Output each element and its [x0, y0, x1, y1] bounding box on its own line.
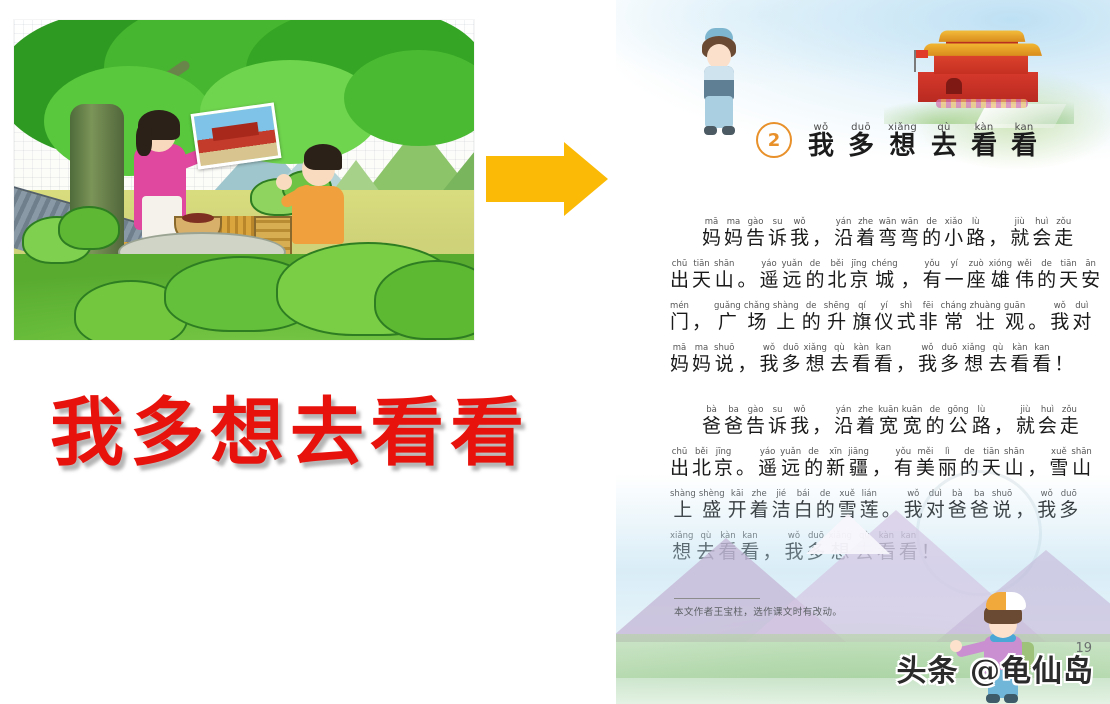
hanzi: 看: [1032, 354, 1051, 376]
ruby-char: duì对: [1072, 302, 1091, 334]
hanzi: 一: [945, 270, 964, 292]
ruby-char: jīng京: [850, 260, 869, 292]
lesson-heading: 2 wǒ我duō多xiǎng想qù去kàn看kan看: [756, 122, 1086, 160]
snow-mountain-cap: [806, 514, 890, 554]
ruby-char: zhe着: [856, 218, 875, 250]
hanzi: 就: [1010, 228, 1029, 250]
ruby-char: ān安: [1081, 260, 1100, 292]
hanzi: 场: [747, 312, 766, 334]
hanzi: 天: [692, 270, 711, 292]
title-char: wǒ我: [808, 122, 834, 160]
title-char: kan看: [1011, 122, 1037, 160]
punctuation-char: ，: [988, 218, 1007, 250]
hanzi: 我: [759, 354, 778, 376]
punctuation-char: 。: [737, 260, 756, 292]
text-line: chū出tiān天shān山 。yáo遥yuǎn远de的běi北jīng京ché…: [616, 250, 1110, 292]
hanzi: 天: [1059, 270, 1078, 292]
ruby-char: běi北: [828, 260, 847, 292]
hanzi: 弯: [878, 228, 897, 250]
child-shoe-left: [986, 694, 1000, 703]
hanzi: 。: [737, 270, 756, 292]
hanzi: 非: [919, 312, 938, 334]
punctuation-char: ，: [812, 218, 831, 250]
hanzi: 路: [966, 228, 985, 250]
hanzi: 城: [875, 270, 894, 292]
hanzi: 多: [940, 354, 959, 376]
ruby-char: de的: [802, 302, 821, 334]
hanzi: 看: [971, 133, 997, 160]
hanzi: 上: [776, 312, 795, 334]
ruby-char: tiān天: [1059, 260, 1078, 292]
ruby-char: chéng城: [872, 260, 898, 292]
title-char: xiǎng想: [888, 122, 917, 160]
hanzi: 多: [848, 133, 874, 160]
tiananmen-flag: [914, 50, 916, 72]
hanzi: 去: [830, 354, 849, 376]
left-illustration: [14, 20, 474, 340]
hanzi: 的: [802, 312, 821, 334]
tiananmen-gate-arch: [946, 78, 962, 94]
boy-shirt: [704, 66, 734, 80]
hanzi: 宽: [879, 416, 898, 438]
ruby-char: gào告: [746, 218, 765, 250]
hanzi: 北: [828, 270, 847, 292]
ruby-char: jiù就: [1016, 406, 1035, 438]
hanzi: 路: [972, 416, 991, 438]
hanzi: 的: [1037, 270, 1056, 292]
hanzi: 爸: [724, 416, 743, 438]
tiananmen-upper-roof: [939, 30, 1026, 41]
ruby-char: wǒ我: [790, 218, 809, 250]
ruby-char: ba爸: [724, 406, 743, 438]
hanzi: 出: [670, 270, 689, 292]
ruby-char: mā妈: [670, 344, 689, 376]
hanzi: 常: [944, 312, 963, 334]
tiananmen-flowerbed: [936, 99, 1028, 108]
ruby-char: su诉: [768, 406, 787, 438]
ruby-char: de的: [925, 406, 944, 438]
punctuation-char: ，: [901, 260, 920, 292]
text-line: mén门 ，guǎng广chǎng场shàng上de的shēng升qí旗yí仪s…: [616, 292, 1110, 334]
hanzi: 想: [890, 133, 916, 160]
lesson-number-badge: 2: [756, 122, 792, 158]
hanzi: 就: [1016, 416, 1035, 438]
ruby-char: chǎng场: [744, 302, 770, 334]
tiananmen-base-wall: [918, 72, 1038, 102]
ruby-char: yí一: [945, 260, 964, 292]
ruby-char: xiǎo小: [944, 218, 963, 250]
hanzi: 对: [1072, 312, 1091, 334]
ruby-char: duō多: [940, 344, 959, 376]
punctuation-char: ，: [812, 406, 831, 438]
ruby-char: zhe着: [856, 406, 875, 438]
photo-gate-shape: [212, 122, 259, 141]
hanzi: 想: [964, 354, 983, 376]
boy-shoe-left: [704, 126, 717, 135]
ruby-char: shàng上: [773, 302, 799, 334]
title-char: qù去: [931, 122, 957, 160]
hanzi: 京: [850, 270, 869, 292]
ruby-char: guān观: [1004, 302, 1025, 334]
ruby-char: kàn看: [1010, 344, 1029, 376]
hanzi: 公: [949, 416, 968, 438]
ruby-char: duō多: [781, 344, 800, 376]
punctuation-char: ，: [692, 302, 711, 334]
hanzi: 妈: [692, 354, 711, 376]
ruby-char: kan看: [1032, 344, 1051, 376]
hanzi: 宽: [903, 416, 922, 438]
ruby-char: de的: [806, 260, 825, 292]
hanzi: 壮: [976, 312, 995, 334]
ruby-char: wǒ我: [759, 344, 778, 376]
ruby-char: wěi伟: [1015, 260, 1034, 292]
tiananmen-lower-roof: [922, 44, 1042, 56]
text-line: mā妈ma妈shuō说 ，wǒ我duō多xiǎng想qù去kàn看kan看 ，w…: [616, 334, 1110, 376]
ruby-char: shēng升: [824, 302, 850, 334]
hanzi: 走: [1060, 416, 1079, 438]
hanzi: 着: [856, 416, 875, 438]
hanzi: 山: [715, 270, 734, 292]
hanzi: 说: [715, 354, 734, 376]
ruby-char: xiǎng想: [962, 344, 985, 376]
lesson-title: wǒ我duō多xiǎng想qù去kàn看kan看: [808, 122, 1037, 160]
boy-hair: [304, 144, 342, 170]
hanzi: 妈: [702, 228, 721, 250]
punctuation-char: ，: [994, 406, 1013, 438]
ruby-char: shān山: [714, 260, 734, 292]
ruby-char: lù路: [972, 406, 991, 438]
ruby-char: xiǎng想: [803, 344, 826, 376]
ruby-char: mā妈: [702, 218, 721, 250]
hanzi: 告: [746, 416, 765, 438]
hanzi: 告: [746, 228, 765, 250]
hanzi: 看: [874, 354, 893, 376]
ruby-char: huì会: [1038, 406, 1057, 438]
hanzi: ，: [812, 416, 831, 438]
text-line: bà爸ba爸gào告su诉wǒ我 ，yán沿zhe着kuān宽kuān宽de的g…: [616, 396, 1110, 438]
hanzi: 小: [944, 228, 963, 250]
ruby-char: yán沿: [834, 218, 853, 250]
hanzi: 爸: [702, 416, 721, 438]
tiananmen-photo: [191, 102, 282, 169]
hanzi: 看: [852, 354, 871, 376]
hanzi: 多: [781, 354, 800, 376]
hanzi: 着: [856, 228, 875, 250]
hanzi: 广: [718, 312, 737, 334]
illustration-tiananmen: [884, 18, 1074, 128]
hanzi: 升: [827, 312, 846, 334]
ruby-char: zuò座: [967, 260, 986, 292]
footnote: 本文作者王宝柱，选作课文时有改动。: [674, 598, 924, 618]
ruby-char: de的: [922, 218, 941, 250]
ruby-char: zǒu走: [1060, 406, 1079, 438]
ruby-char: bà爸: [702, 406, 721, 438]
hanzi: ！: [1054, 354, 1073, 376]
hanzi: 我: [790, 416, 809, 438]
ruby-char: yáo遥: [759, 260, 778, 292]
hanzi: 诉: [768, 228, 787, 250]
ruby-char: jiù就: [1010, 218, 1029, 250]
hanzi: 有: [923, 270, 942, 292]
bush-small-2: [58, 206, 120, 250]
hanzi: 妈: [670, 354, 689, 376]
hanzi: 座: [967, 270, 986, 292]
ruby-char: kan看: [874, 344, 893, 376]
ruby-char: su诉: [768, 218, 787, 250]
hanzi: 走: [1054, 228, 1073, 250]
right-arrow-icon: [486, 142, 608, 216]
ruby-char: ma妈: [724, 218, 743, 250]
hanzi: ，: [988, 228, 1007, 250]
ruby-char: wǒ我: [790, 406, 809, 438]
ruby-char: tiān天: [692, 260, 711, 292]
hanzi: 沿: [834, 416, 853, 438]
hanzi: 弯: [900, 228, 919, 250]
ruby-char: shì式: [897, 302, 916, 334]
ruby-char: wǒ我: [1050, 302, 1069, 334]
hanzi: 我: [1050, 312, 1069, 334]
footnote-rule: [674, 598, 760, 599]
hanzi: 安: [1081, 270, 1100, 292]
slide-canvas: 我多想去看看 2: [0, 0, 1110, 704]
ruby-char: zǒu走: [1054, 218, 1073, 250]
hanzi: 遥: [759, 270, 778, 292]
child-cap: [986, 592, 1026, 610]
mother-hair-side: [136, 124, 152, 156]
ruby-char: gào告: [746, 406, 765, 438]
hanzi: 去: [931, 133, 957, 160]
hanzi: 式: [897, 312, 916, 334]
page-title: 我多想去看看: [50, 396, 520, 470]
hanzi: ，: [901, 270, 920, 292]
punctuation-char: ，: [737, 344, 756, 376]
ruby-char: kuān宽: [902, 406, 923, 438]
punctuation-char: ，: [896, 344, 915, 376]
hanzi: 会: [1038, 416, 1057, 438]
boy-shoe-right: [722, 126, 735, 135]
ruby-char: wān弯: [878, 218, 897, 250]
hanzi: 的: [925, 416, 944, 438]
text-line: mā妈ma妈gào告su诉wǒ我 ，yán沿zhe着wān弯wān弯de的xiǎ…: [616, 208, 1110, 250]
ruby-char: gōng公: [947, 406, 968, 438]
ruby-char: qù去: [988, 344, 1007, 376]
hanzi: 我: [808, 133, 834, 160]
hanzi: 。: [1028, 312, 1047, 334]
hanzi: 我: [918, 354, 937, 376]
hanzi: 妈: [724, 228, 743, 250]
ruby-char: yí仪: [875, 302, 894, 334]
ruby-char: fēi非: [919, 302, 938, 334]
ruby-char: zhuàng壮: [970, 302, 1001, 334]
hanzi: 旗: [853, 312, 872, 334]
watermark-text: 头条 @龟仙岛: [897, 646, 1094, 690]
hanzi: 的: [806, 270, 825, 292]
hanzi: 去: [988, 354, 1007, 376]
hanzi: 仪: [875, 312, 894, 334]
title-char: duō多: [848, 122, 874, 160]
footnote-text: 本文作者王宝柱，选作课文时有改动。: [674, 604, 924, 618]
ruby-char: ma妈: [692, 344, 711, 376]
hanzi: 雄: [991, 270, 1010, 292]
hanzi: 诉: [768, 416, 787, 438]
textbook-page: 2 wǒ我duō多xiǎng想qù去kàn看kan看 mā妈ma妈gào告su诉…: [616, 0, 1110, 704]
punctuation-char: 。: [1028, 302, 1047, 334]
hanzi: 会: [1032, 228, 1051, 250]
hanzi: 看: [1011, 133, 1037, 160]
ruby-char: qù去: [830, 344, 849, 376]
hanzi: 的: [922, 228, 941, 250]
hanzi: ，: [896, 354, 915, 376]
hanzi: 门: [670, 312, 689, 334]
punctuation-char: ！: [1054, 344, 1073, 376]
boy-hand: [276, 174, 292, 190]
illustration-boy-uighur: [692, 28, 752, 138]
ruby-char: huì会: [1032, 218, 1051, 250]
hanzi: ，: [737, 354, 756, 376]
hanzi: 想: [806, 354, 825, 376]
ruby-char: guǎng广: [714, 302, 741, 334]
hanzi: 远: [782, 270, 801, 292]
child-shoe-right: [1004, 694, 1018, 703]
title-char: kàn看: [971, 122, 997, 160]
ruby-char: kàn看: [852, 344, 871, 376]
ruby-char: chū出: [670, 260, 689, 292]
hanzi: 观: [1005, 312, 1024, 334]
ruby-char: shuō说: [714, 344, 734, 376]
ruby-char: lù路: [966, 218, 985, 250]
ruby-char: xióng雄: [989, 260, 1012, 292]
boy-pants: [705, 96, 733, 128]
hanzi: ，: [812, 228, 831, 250]
hanzi: ，: [692, 312, 711, 334]
ruby-char: qí旗: [853, 302, 872, 334]
hanzi: 我: [790, 228, 809, 250]
ruby-char: wān弯: [900, 218, 919, 250]
hanzi: ，: [994, 416, 1013, 438]
ruby-char: yuǎn远: [781, 260, 802, 292]
ruby-char: de的: [1037, 260, 1056, 292]
hanzi: 看: [1010, 354, 1029, 376]
ruby-char: mén门: [670, 302, 689, 334]
ruby-char: yǒu有: [923, 260, 942, 292]
hanzi: 沿: [834, 228, 853, 250]
paragraph-1: mā妈ma妈gào告su诉wǒ我 ，yán沿zhe着wān弯wān弯de的xiǎ…: [616, 208, 1110, 376]
ruby-char: wǒ我: [918, 344, 937, 376]
hanzi: 伟: [1015, 270, 1034, 292]
ruby-char: cháng常: [941, 302, 967, 334]
ruby-char: kuān宽: [878, 406, 899, 438]
ruby-char: yán沿: [834, 406, 853, 438]
